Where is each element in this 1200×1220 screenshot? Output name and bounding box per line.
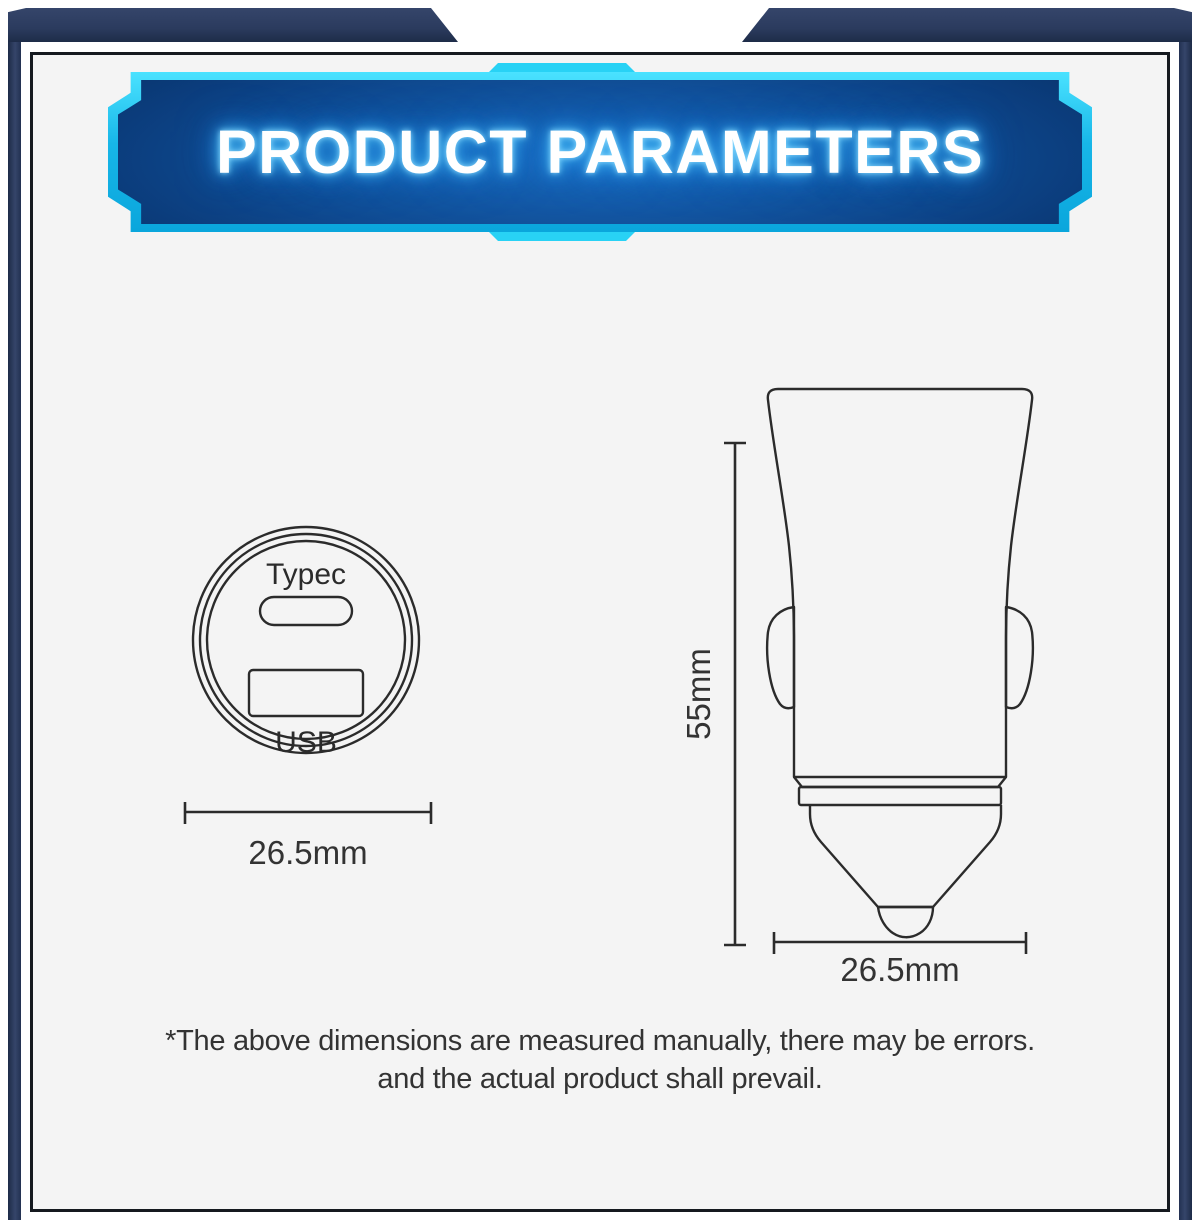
product-parameters-page: PRODUCT PARAMETERS Typec USB 26.5 bbox=[0, 0, 1200, 1200]
frame-left-rail bbox=[8, 30, 21, 1220]
frame-top-left-tab bbox=[8, 8, 458, 42]
frame-top-right-tab bbox=[742, 8, 1192, 42]
footnote-line-1: *The above dimensions are measured manua… bbox=[60, 1022, 1140, 1060]
frame-right-rail bbox=[1179, 30, 1192, 1220]
page-title: PRODUCT PARAMETERS bbox=[108, 80, 1092, 224]
footnote: *The above dimensions are measured manua… bbox=[60, 1022, 1140, 1098]
header-banner: PRODUCT PARAMETERS bbox=[108, 62, 1092, 242]
footnote-line-2: and the actual product shall prevail. bbox=[60, 1060, 1140, 1098]
